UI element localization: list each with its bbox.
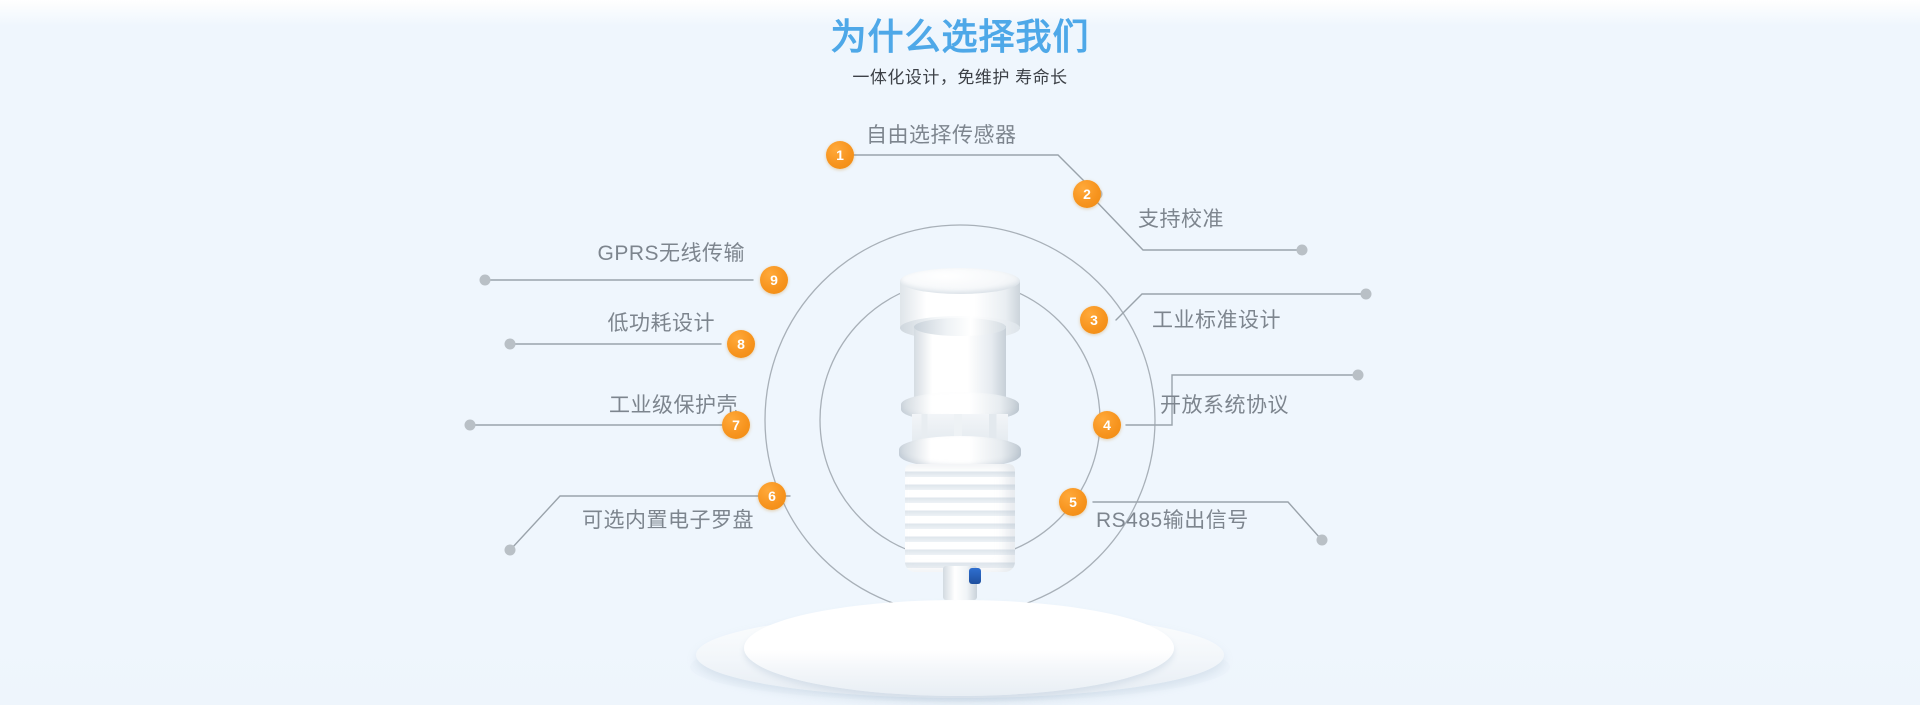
endpoint-dot-5	[1317, 535, 1328, 546]
feature-label-3: 工业标准设计	[1152, 310, 1281, 331]
heading-block: 为什么选择我们 一体化设计，免维护 寿命长	[0, 0, 1920, 89]
feature-label-9: GPRS无线传输	[597, 243, 745, 264]
endpoint-dot-4	[1353, 370, 1364, 381]
page-subtitle: 一体化设计，免维护 寿命长	[0, 59, 1920, 89]
feature-badge-4[interactable]: 4	[1093, 411, 1121, 439]
endpoint-dot-2	[1297, 245, 1308, 256]
feature-badge-1[interactable]: 1	[826, 141, 854, 169]
product-pedestal	[690, 592, 1230, 704]
connector-line-1	[853, 155, 1095, 192]
sensor-radiation-shield	[905, 464, 1015, 572]
sensor-connector-blue-detail	[969, 568, 981, 584]
feature-badge-2[interactable]: 2	[1073, 180, 1101, 208]
feature-label-4: 开放系统协议	[1160, 395, 1289, 416]
product-image	[868, 268, 1052, 598]
feature-badge-5[interactable]: 5	[1059, 488, 1087, 516]
feature-label-8: 低功耗设计	[608, 313, 716, 334]
why-choose-us-section: 为什么选择我们 一体化设计，免维护 寿命长	[0, 0, 1920, 705]
pedestal-upper-disc	[744, 600, 1174, 696]
feature-badge-7[interactable]: 7	[722, 411, 750, 439]
feature-label-2: 支持校准	[1138, 209, 1224, 230]
feature-label-7: 工业级保护壳	[609, 395, 738, 416]
feature-label-6: 可选内置电子罗盘	[582, 510, 754, 531]
sensor-neck-cap	[914, 318, 1006, 336]
sensor-cap-top	[900, 268, 1020, 294]
endpoint-dot-6	[505, 545, 516, 556]
page-title: 为什么选择我们	[0, 0, 1920, 59]
feature-label-5: RS485输出信号	[1096, 510, 1249, 531]
endpoint-dot-3	[1361, 289, 1372, 300]
feature-badge-3[interactable]: 3	[1080, 306, 1108, 334]
endpoint-dot-9	[480, 275, 491, 286]
feature-badge-8[interactable]: 8	[727, 330, 755, 358]
endpoint-dot-7	[465, 420, 476, 431]
feature-badge-9[interactable]: 9	[760, 266, 788, 294]
feature-label-1: 自由选择传感器	[866, 125, 1017, 146]
endpoint-dot-8	[505, 339, 516, 350]
feature-badge-6[interactable]: 6	[758, 482, 786, 510]
